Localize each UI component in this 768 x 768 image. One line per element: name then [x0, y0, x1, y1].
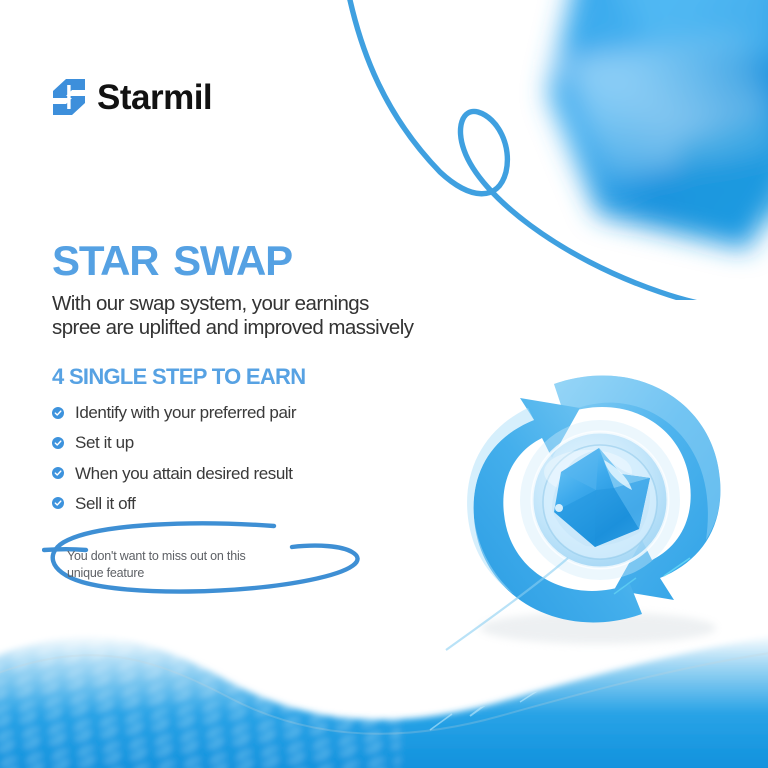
- check-circle-icon: [52, 437, 64, 449]
- headline-part-2: SWAP: [173, 237, 292, 284]
- check-circle-icon: [52, 467, 64, 479]
- steps-section-title: 4 SINGLE STEP TO EARN: [52, 366, 482, 388]
- step-label: When you attain desired result: [75, 463, 293, 484]
- brand-name: Starmil: [97, 80, 212, 115]
- callout-line-1: You don't want to miss out on this: [67, 549, 246, 563]
- list-item: Set it up: [52, 432, 482, 453]
- list-item: Sell it off: [52, 493, 482, 514]
- blue-gradient-wave-with-s-pattern-icon: [0, 598, 768, 768]
- check-circle-icon: [52, 407, 64, 419]
- step-label: Sell it off: [75, 493, 136, 514]
- list-item: Identify with your preferred pair: [52, 402, 482, 423]
- step-label: Set it up: [75, 432, 134, 453]
- check-circle-icon: [52, 497, 64, 509]
- step-label: Identify with your preferred pair: [75, 402, 296, 423]
- subhead-line-1: With our swap system, your earnings: [52, 292, 369, 315]
- starmil-s-monogram-icon: [52, 78, 86, 116]
- hero-copy-block: STAR SWAP With our swap system, your ear…: [52, 240, 482, 523]
- headline-part-1: STAR: [52, 237, 158, 284]
- subhead-line-2: spree are uplifted and improved massivel…: [52, 316, 413, 339]
- hero-subheading: With our swap system, your earningsspree…: [52, 292, 482, 341]
- callout-message: You don't want to miss out on this uniqu…: [67, 548, 292, 581]
- list-item: When you attain desired result: [52, 463, 482, 484]
- callout-line-2: unique feature: [67, 566, 144, 580]
- poster-canvas: Starmil STAR SWAP With our swap system, …: [0, 0, 768, 768]
- steps-list: Identify with your preferred pair Set it…: [52, 402, 482, 514]
- page-title: STAR SWAP: [52, 240, 482, 283]
- brand-logo[interactable]: Starmil: [52, 78, 212, 116]
